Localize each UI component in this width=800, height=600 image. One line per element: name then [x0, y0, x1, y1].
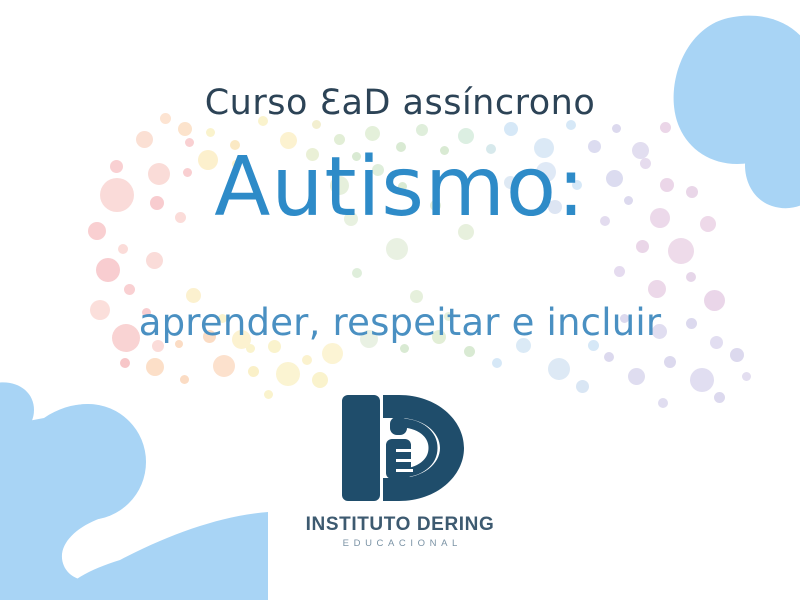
brand-logo-block: INSTITUTO DERING EDUCACIONAL	[306, 389, 495, 549]
instituto-dering-d-monogram-icon	[334, 389, 466, 507]
poster-canvas: Curso ƐaD assíncrono Autismo: aprender, …	[0, 0, 800, 600]
course-format-label: Curso ƐaD assíncrono	[205, 86, 596, 121]
brand-tagline: EDUCACIONAL	[338, 539, 462, 549]
poster-content: Curso ƐaD assíncrono Autismo: aprender, …	[0, 0, 800, 600]
page-title: Autismo:	[214, 147, 585, 229]
page-subtitle: aprender, respeitar e incluir	[139, 304, 662, 341]
brand-name: INSTITUTO DERING	[306, 515, 495, 534]
